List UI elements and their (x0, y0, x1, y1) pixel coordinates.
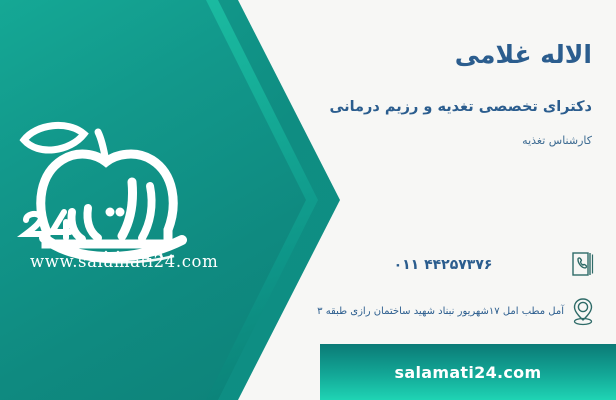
address-text: آمل مطب امل ۱۷شهریور نبناد شهید ساختمان … (317, 306, 568, 317)
person-role: کارشناس تغذیه (522, 134, 592, 147)
contact-row-phone[interactable]: ۴۴۲۵۷۳۷۶ ۰۱۱ (322, 248, 598, 282)
footer-website-bar[interactable]: salamati24.com (320, 344, 616, 400)
logo-website-url: www.salamati24.com (30, 252, 210, 271)
business-card: www.salamati24.com الاله غلامی دکترای تخ… (0, 0, 616, 400)
phone-book-icon (568, 248, 598, 282)
contact-row-address[interactable]: آمل مطب امل ۱۷شهریور نبناد شهید ساختمان … (322, 294, 598, 328)
person-title: دکترای تخصصی تغدیه و رزیم درمانی (329, 99, 592, 115)
person-name: الاله غلامی (455, 40, 592, 69)
footer-website-text: salamati24.com (395, 363, 542, 382)
contact-list: ۴۴۲۵۷۳۷۶ ۰۱۱ آمل مطب امل ۱۷شهریور نبناد … (322, 248, 598, 340)
map-pin-icon (568, 294, 598, 328)
phone-number: ۴۴۲۵۷۳۷۶ ۰۱۱ (322, 257, 568, 273)
card-info-panel: الاله غلامی دکترای تخصصی تغدیه و رزیم در… (320, 0, 616, 400)
